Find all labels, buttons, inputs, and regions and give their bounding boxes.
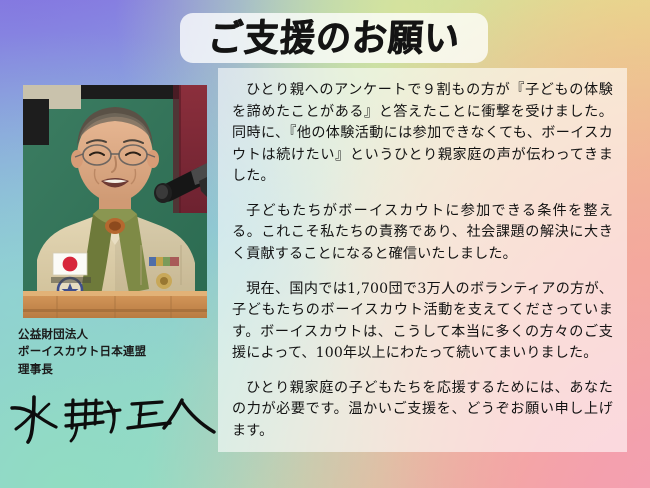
message-paragraph-3: 現在、国内では1,700団で3万人のボランティアの方が、子どもたちのボーイスカウ… xyxy=(232,279,613,365)
page-title: ご支援のお願い xyxy=(207,19,461,56)
title-plate: ご支援のお願い xyxy=(180,13,488,63)
portrait-photo-illustration xyxy=(23,85,207,318)
signature xyxy=(4,388,216,452)
message-paragraph-1: ひとり親へのアンケートで９割もの方が『子どもの体験を諦めたことがある』と答えたこ… xyxy=(232,80,613,188)
message-panel: ひとり親へのアンケートで９割もの方が『子どもの体験を諦めたことがある』と答えたこ… xyxy=(218,68,627,452)
portrait-photo xyxy=(23,85,207,318)
message-paragraph-4: ひとり親家庭の子どもたちを応援するためには、あなたの力が必要です。温かいご支援を… xyxy=(232,378,613,443)
handwritten-signature-mizuno-masato xyxy=(4,388,216,452)
credit-line-organization-name: ボーイスカウト日本連盟 xyxy=(18,343,218,360)
message-paragraph-2: 子どもたちがボーイスカウトに参加できる条件を整える。これこそ私たちの責務であり、… xyxy=(232,201,613,266)
credit-block: 公益財団法人 ボーイスカウト日本連盟 理事長 xyxy=(18,326,218,378)
credit-line-position: 理事長 xyxy=(18,361,218,378)
support-request-poster: ご支援のお願い xyxy=(0,0,650,488)
credit-line-organization-type: 公益財団法人 xyxy=(18,326,218,343)
